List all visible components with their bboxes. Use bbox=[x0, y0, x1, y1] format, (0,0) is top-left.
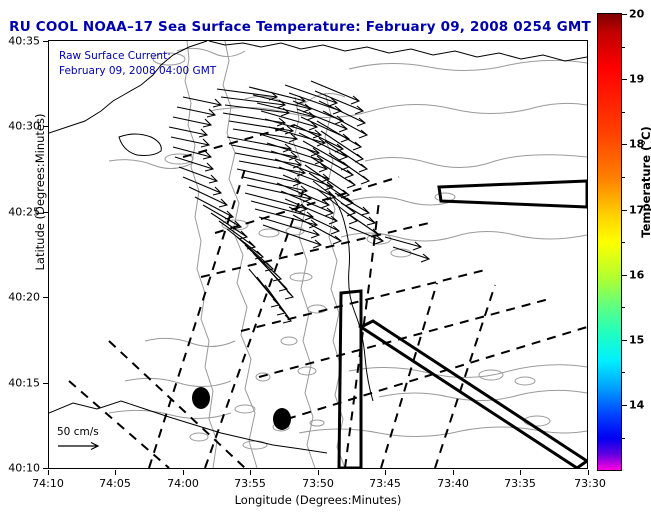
y-tick bbox=[43, 468, 48, 469]
colorbar-tick-label: 20 bbox=[629, 8, 644, 21]
x-tick bbox=[115, 470, 116, 475]
colorbar-title: Temperature (°C) bbox=[639, 102, 651, 262]
colorbar-minor-tick bbox=[622, 307, 625, 308]
radar-beam-lines bbox=[69, 125, 587, 468]
colorbar-tick bbox=[622, 210, 627, 211]
x-axis-title: Longitude (Degrees:Minutes) bbox=[48, 493, 588, 507]
x-tick-label: 73:50 bbox=[302, 477, 334, 490]
x-tick-label: 73:40 bbox=[437, 477, 469, 490]
y-axis-title: Latitude (Degrees:Minutes) bbox=[33, 72, 47, 312]
colorbar-tick-label: 15 bbox=[629, 334, 644, 347]
x-tick bbox=[318, 470, 319, 475]
colorbar-minor-tick bbox=[622, 177, 625, 178]
x-tick bbox=[385, 470, 386, 475]
x-tick-label: 74:05 bbox=[99, 477, 131, 490]
x-tick-label: 73:45 bbox=[369, 477, 401, 490]
x-tick bbox=[453, 470, 454, 475]
station-marker bbox=[192, 387, 210, 409]
y-tick-label: 40:35 bbox=[8, 35, 40, 48]
figure-canvas: RU COOL NOAA–17 Sea Surface Temperature:… bbox=[0, 0, 651, 518]
map-plot-area[interactable]: Raw Surface Current: February 09, 2008 0… bbox=[48, 40, 588, 469]
velocity-scale-label: 50 cm/s bbox=[57, 426, 105, 438]
colorbar-tick bbox=[622, 275, 627, 276]
velocity-scale-key: 50 cm/s bbox=[57, 426, 105, 451]
x-tick-label: 73:35 bbox=[504, 477, 536, 490]
figure-title: RU COOL NOAA–17 Sea Surface Temperature:… bbox=[0, 19, 600, 35]
y-tick bbox=[43, 41, 48, 42]
colorbar-minor-tick bbox=[622, 242, 625, 243]
colorbar-minor-tick bbox=[622, 438, 625, 439]
colorbar-tick-label: 14 bbox=[629, 399, 644, 412]
colorbar-tick-label: 19 bbox=[629, 73, 644, 86]
x-tick bbox=[183, 470, 184, 475]
colorbar-tick bbox=[622, 14, 627, 15]
colorbar-tick bbox=[622, 405, 627, 406]
colorbar-tick bbox=[622, 79, 627, 80]
x-tick bbox=[520, 470, 521, 475]
station-marker bbox=[273, 408, 291, 430]
x-tick bbox=[250, 470, 251, 475]
colorbar[interactable] bbox=[597, 13, 622, 471]
x-tick bbox=[588, 470, 589, 475]
colorbar-gradient bbox=[598, 14, 621, 470]
colorbar-tick bbox=[622, 144, 627, 145]
colorbar-minor-tick bbox=[622, 47, 625, 48]
colorbar-tick bbox=[622, 340, 627, 341]
right-arrow-icon bbox=[57, 441, 105, 451]
map-graphics bbox=[49, 41, 587, 468]
y-tick-label: 40:10 bbox=[8, 462, 40, 475]
y-tick bbox=[43, 383, 48, 384]
station-markers[interactable] bbox=[192, 387, 291, 430]
colorbar-minor-tick bbox=[622, 372, 625, 373]
x-tick-label: 74:00 bbox=[167, 477, 199, 490]
x-tick bbox=[48, 470, 49, 475]
x-tick-label: 73:30 bbox=[574, 477, 606, 490]
x-tick-label: 73:55 bbox=[234, 477, 266, 490]
colorbar-tick-label: 16 bbox=[629, 269, 644, 282]
colorbar-minor-tick bbox=[622, 112, 625, 113]
y-tick-label: 40:15 bbox=[8, 377, 40, 390]
x-tick-label: 74:10 bbox=[32, 477, 64, 490]
